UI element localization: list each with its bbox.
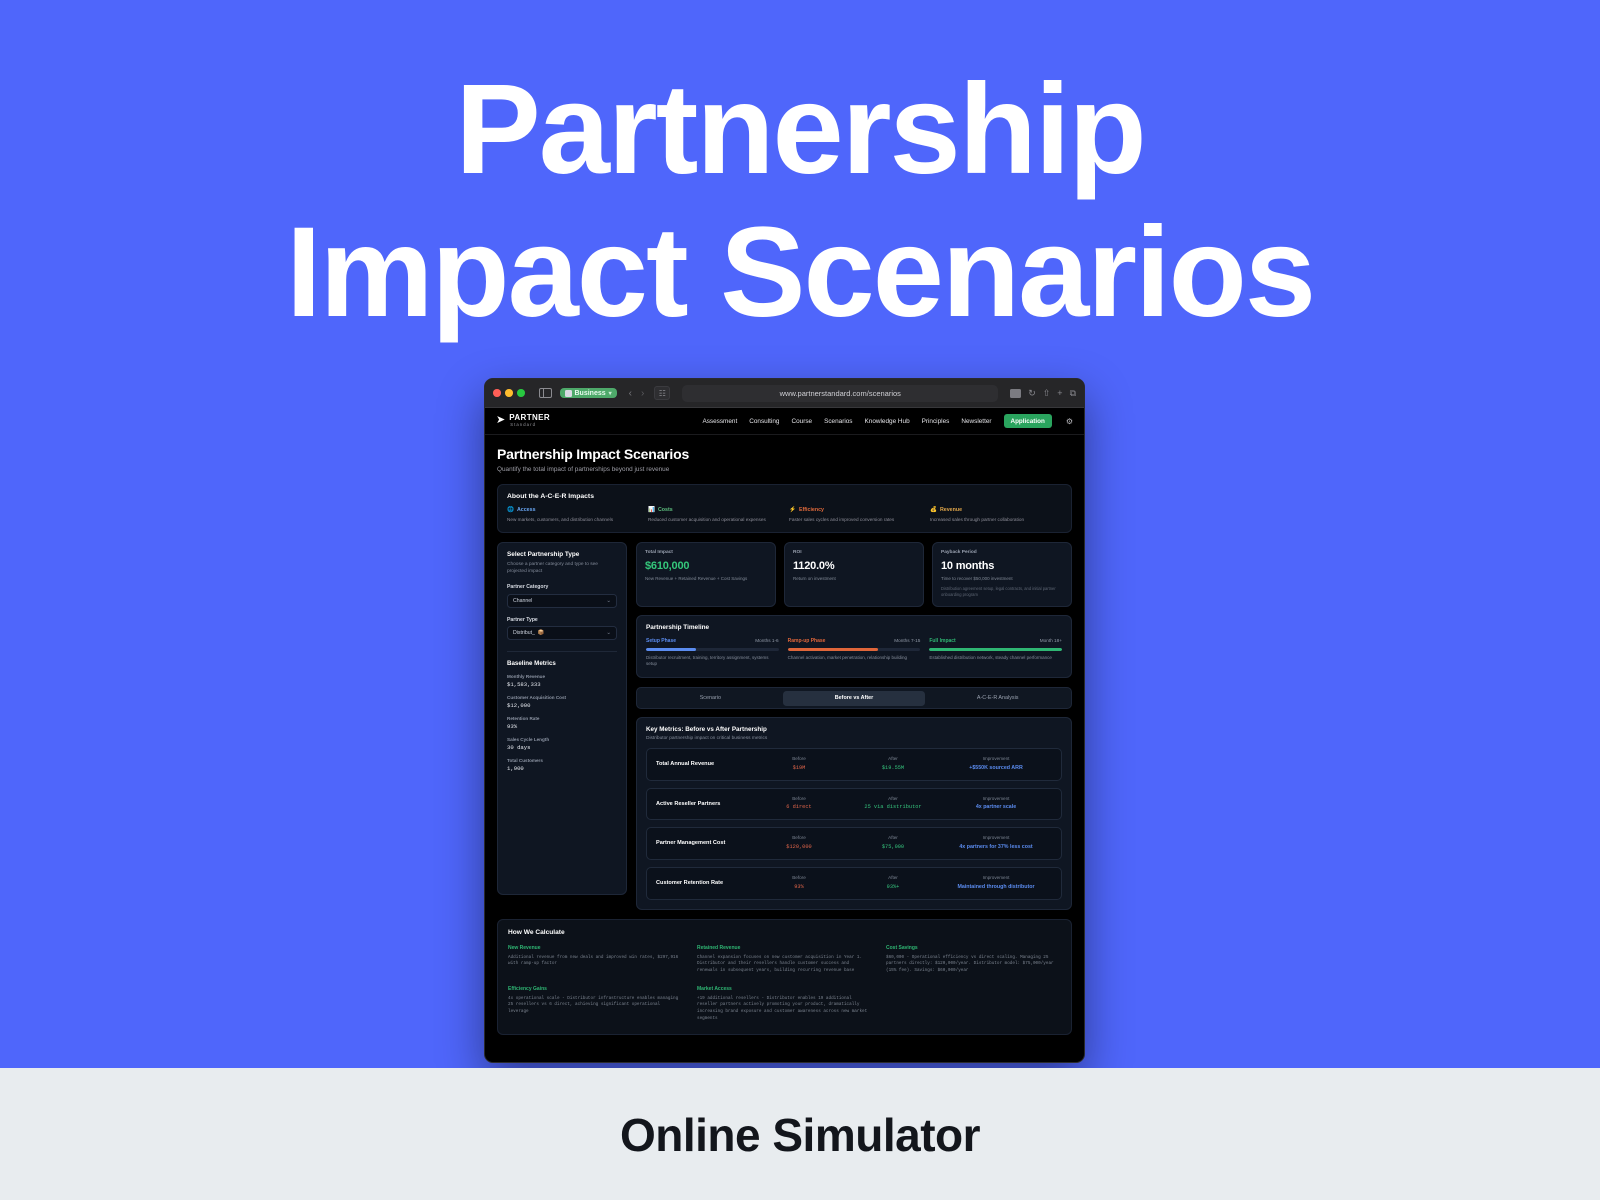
metric-after: 25 via distributor [846,804,940,811]
chart-icon: 📊 [648,507,655,513]
stat-desc-secondary: Distribution agreement setup, legal cont… [941,586,1063,598]
package-icon: 📦 [538,630,545,636]
col-header-improvement: Improvement [940,875,1052,880]
nav-item-newsletter[interactable]: Newsletter [961,418,991,425]
how-we-calculate-title: How We Calculate [508,929,1061,936]
acer-desc-costs: Reduced customer acquisition and operati… [648,516,780,523]
metric-improvement: Maintained through distributor [940,884,1052,891]
baseline-metric-monthly-revenue: Monthly Revenue $1,583,333 [507,674,617,688]
browser-toolbar-right: ↻ ⇧ + ⧉ [1010,388,1076,399]
phase-name: Full Impact [929,638,955,644]
page-subtitle: Quantify the total impact of partnership… [497,466,1072,473]
partner-type-field: Partner Type Distribut_ 📦 ⌄ [507,617,617,641]
hero-title: Partnership Impact Scenarios [0,58,1600,345]
timeline-title: Partnership Timeline [646,624,1062,631]
forward-icon[interactable]: › [641,388,644,399]
metric-name: Customer Retention Rate [656,880,752,886]
phase-desc: Distributor recruitment, training, terri… [646,655,779,669]
brand-name: PARTNER [509,414,550,422]
how-item-new-revenue: New Revenue Additional revenue from new … [508,945,683,975]
new-tab-icon[interactable]: + [1057,388,1062,398]
stat-value: 1120.0% [793,560,915,572]
site-header: ➤ PARTNER Standard Assessment Consulting… [485,408,1084,435]
acer-item-access: 🌐 Access New markets, customers, and dis… [507,507,639,523]
stat-value: $610,000 [645,560,767,572]
maximize-window-icon[interactable] [517,389,525,397]
stat-desc: Return on investment [793,576,915,582]
acer-label-costs: Costs [658,507,673,513]
phase-progress-bar [929,648,1062,650]
stat-label: Total Impact [645,550,767,555]
phase-months: Month 18+ [1040,638,1062,643]
baseline-value: 1,900 [507,765,617,772]
phase-progress-bar [646,648,779,650]
nav-item-course[interactable]: Course [791,418,812,425]
tab-before-vs-after[interactable]: Before vs After [783,691,925,706]
partner-category-value: Channel [513,598,532,604]
col-header-improvement: Improvement [940,835,1052,840]
metric-name: Active Reseller Partners [656,801,752,807]
divider [507,651,617,652]
table-row: Total Annual Revenue Before$19M After$19… [646,748,1062,781]
share-icon[interactable]: ⇧ [1043,388,1051,399]
partner-type-select[interactable]: Distribut_ 📦 ⌄ [507,626,617,640]
phase-months: Months 1-6 [755,638,778,643]
baseline-value: 93% [507,723,617,730]
stat-desc: New Revenue + Retained Revenue + Cost Sa… [645,576,767,582]
acer-label-access: Access [517,507,536,513]
how-item-retained-revenue: Retained Revenue Channel expansion focus… [697,945,872,975]
gear-icon[interactable]: ⚙ [1066,417,1073,426]
col-header-before: Before [752,875,846,880]
acer-desc-revenue: Increased sales through partner collabor… [930,516,1062,523]
profile-avatar-icon [565,390,572,397]
profile-switcher-button[interactable]: Business ▾ [560,388,617,398]
how-heading: Efficiency Gains [508,986,683,992]
reload-icon[interactable]: ↻ [1028,388,1036,399]
back-icon[interactable]: ‹ [629,388,632,399]
col-header-improvement: Improvement [940,796,1052,801]
website-viewport: ➤ PARTNER Standard Assessment Consulting… [485,408,1084,1062]
browser-window: Business ▾ ‹ › ☷ www.partnerstandard.com… [484,378,1085,1063]
timeline-phase-setup: Setup Phase Months 1-6 Distributor recru… [646,638,779,668]
footer-caption: Online Simulator [0,1108,1600,1162]
lightning-icon: ⚡ [789,507,796,513]
how-heading: New Revenue [508,945,683,951]
baseline-metric-retention-rate: Retention Rate 93% [507,716,617,730]
nav-item-scenarios[interactable]: Scenarios [824,418,852,425]
baseline-key: Monthly Revenue [507,674,617,679]
nav-item-consulting[interactable]: Consulting [749,418,779,425]
browser-chrome-toolbar: Business ▾ ‹ › ☷ www.partnerstandard.com… [485,379,1084,408]
logo-mark-icon: ➤ [496,415,505,426]
hero-title-line-2: Impact Scenarios [0,201,1600,344]
metric-improvement: 4x partners for 37% less cost [940,844,1052,851]
baseline-metric-sales-cycle: Sales Cycle Length 30 days [507,737,617,751]
col-header-after: After [846,796,940,801]
baseline-key: Total Customers [507,758,617,763]
chevron-down-icon: ▾ [609,390,612,397]
metric-after: 93%+ [846,884,940,891]
baseline-key: Customer Acquisition Cost [507,695,617,700]
timeline-phase-full-impact: Full Impact Month 18+ Established distri… [929,638,1062,668]
page-title: Partnership Impact Scenarios [497,446,1072,462]
globe-icon: 🌐 [507,507,514,513]
how-body: 4x operational scale - Distributor infra… [508,996,683,1016]
tab-overview-icon[interactable]: ⧉ [1070,388,1076,399]
how-body: +19 additional resellers - Distributor e… [697,996,872,1023]
how-item-cost-savings: Cost Savings $60,000 - Operational effic… [886,945,1061,975]
stat-card-payback-period: Payback Period 10 months Time to recover… [932,542,1072,607]
partnership-type-selector-panel: Select Partnership Type Choose a partner… [497,542,627,895]
metric-improvement: 4x partner scale [940,804,1052,811]
col-header-before: Before [752,796,846,801]
view-tabs: Scenario Before vs After A-C-E-R Analysi… [636,687,1072,709]
key-metrics-card: Key Metrics: Before vs After Partnership… [636,717,1072,910]
phase-name: Setup Phase [646,638,676,644]
partner-category-field: Partner Category Channel ⌄ [507,584,617,608]
baseline-key: Sales Cycle Length [507,737,617,742]
metric-before: 6 direct [752,804,846,811]
metric-name: Partner Management Cost [656,840,752,846]
selector-title: Select Partnership Type [507,551,617,558]
stat-card-total-impact: Total Impact $610,000 New Revenue + Reta… [636,542,776,607]
how-heading: Cost Savings [886,945,1061,951]
partnership-timeline-card: Partnership Timeline Setup Phase Months … [636,615,1072,678]
money-bag-icon: 💰 [930,507,937,513]
how-heading: Market Access [697,986,872,992]
acer-desc-efficiency: Faster sales cycles and improved convers… [789,516,921,523]
col-header-after: After [846,875,940,880]
metrics-title: Key Metrics: Before vs After Partnership [646,726,1062,733]
stat-value: 10 months [941,560,1063,572]
partner-type-label: Partner Type [507,617,617,623]
phase-desc: Established distribution network, steady… [929,655,1062,662]
phase-progress-bar [788,648,921,650]
acer-label-revenue: Revenue [940,507,962,513]
baseline-metrics-title: Baseline Metrics [507,660,617,667]
tab-acer-analysis[interactable]: A-C-E-R Analysis [927,691,1069,706]
how-item-market-access: Market Access +19 additional resellers -… [697,986,872,1023]
baseline-metric-cac: Customer Acquisition Cost $12,000 [507,695,617,709]
metrics-subtitle: Distributor partnership impact on critic… [646,736,1062,741]
col-header-before: Before [752,756,846,761]
nav-item-knowledge-hub[interactable]: Knowledge Hub [865,418,910,425]
chevron-down-icon: ⌄ [606,630,611,636]
nav-item-assessment[interactable]: Assessment [702,418,737,425]
application-button[interactable]: Application [1004,414,1052,428]
partner-type-value: Distribut_ [513,630,535,636]
site-nav: Assessment Consulting Course Scenarios K… [702,414,1073,428]
baseline-key: Retention Rate [507,716,617,721]
table-row: Customer Retention Rate Before93% After9… [646,867,1062,900]
site-logo[interactable]: ➤ PARTNER Standard [496,414,550,427]
phase-months: Months 7-15 [894,638,920,643]
about-acer-title: About the A-C-E-R Impacts [507,493,1062,500]
metric-name: Total Annual Revenue [656,761,752,767]
summary-stats: Total Impact $610,000 New Revenue + Reta… [636,542,1072,607]
acer-label-efficiency: Efficiency [799,507,824,513]
baseline-value: $1,583,333 [507,681,617,688]
acer-desc-access: New markets, customers, and distribution… [507,516,639,523]
col-header-improvement: Improvement [940,756,1052,761]
baseline-value: $12,000 [507,702,617,709]
acer-item-efficiency: ⚡ Efficiency Faster sales cycles and imp… [789,507,921,523]
address-bar[interactable]: www.partnerstandard.com/scenarios [682,385,998,402]
hero-title-line-1: Partnership [0,58,1600,201]
table-row: Active Reseller Partners Before6 direct … [646,788,1062,821]
stat-card-roi: ROI 1120.0% Return on investment [784,542,924,607]
col-header-after: After [846,756,940,761]
navigation-arrows[interactable]: ‹ › [629,388,645,399]
partner-category-label: Partner Category [507,584,617,590]
sidebar-toggle-icon[interactable] [539,388,552,398]
tab-scenario[interactable]: Scenario [640,691,782,706]
reader-view-icon[interactable]: ☷ [654,386,670,400]
acer-item-costs: 📊 Costs Reduced customer acquisition and… [648,507,780,523]
partner-category-select[interactable]: Channel ⌄ [507,594,617,608]
page-content: Partnership Impact Scenarios Quantify th… [485,435,1084,1035]
acer-item-revenue: 💰 Revenue Increased sales through partne… [930,507,1062,523]
profile-label: Business [575,390,606,397]
how-we-calculate-card: How We Calculate New Revenue Additional … [497,919,1072,1036]
stat-desc: Time to recover $50,000 investment [941,576,1063,582]
url-text: www.partnerstandard.com/scenarios [780,389,901,398]
baseline-value: 30 days [507,744,617,751]
stat-label: ROI [793,550,915,555]
metric-after: $19.55M [846,765,940,772]
brand-sub: Standard [510,423,550,427]
phase-name: Ramp-up Phase [788,638,826,644]
minimize-window-icon[interactable] [505,389,513,397]
phase-desc: Channel activation, market penetration, … [788,655,921,662]
metric-before: $120,000 [752,844,846,851]
how-body: Additional revenue from new deals and im… [508,955,683,968]
how-heading: Retained Revenue [697,945,872,951]
metric-improvement: +$550K sourced ARR [940,765,1052,772]
how-body: $60,000 - Operational efficiency vs dire… [886,955,1061,975]
metric-after: $75,000 [846,844,940,851]
how-body: Channel expansion focuses on new custome… [697,955,872,975]
baseline-metric-total-customers: Total Customers 1,900 [507,758,617,772]
window-traffic-lights[interactable] [493,389,525,397]
how-item-efficiency-gains: Efficiency Gains 4x operational scale - … [508,986,683,1023]
selector-subtitle: Choose a partner category and type to se… [507,562,617,576]
col-header-after: After [846,835,940,840]
metric-before: 93% [752,884,846,891]
table-row: Partner Management Cost Before$120,000 A… [646,827,1062,860]
metric-before: $19M [752,765,846,772]
close-window-icon[interactable] [493,389,501,397]
extension-icon[interactable] [1010,389,1021,398]
nav-item-principles[interactable]: Principles [922,418,950,425]
chevron-down-icon: ⌄ [606,598,611,604]
stat-label: Payback Period [941,550,1063,555]
col-header-before: Before [752,835,846,840]
timeline-phase-rampup: Ramp-up Phase Months 7-15 Channel activa… [788,638,921,668]
about-acer-card: About the A-C-E-R Impacts 🌐 Access New m… [497,484,1072,533]
